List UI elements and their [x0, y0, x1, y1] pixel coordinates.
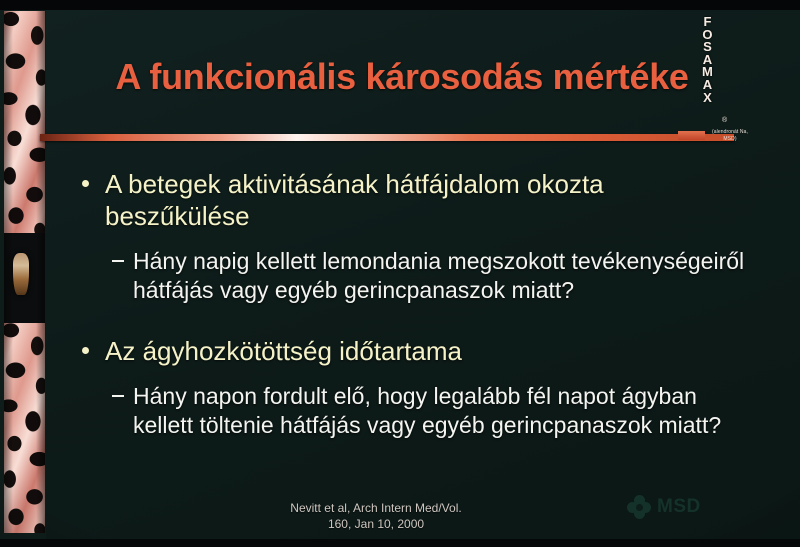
title-divider-rule	[40, 134, 734, 141]
trabecular-bone-texture	[4, 11, 45, 233]
trabecular-bone-texture	[4, 323, 45, 533]
citation-line-1: Nevitt et al, Arch Intern Med/Vol.	[166, 500, 586, 516]
bone-specimen-icon	[13, 253, 29, 295]
presentation-slide: A funkcionális károsodás mértéke A beteg…	[0, 0, 800, 547]
bullet-dash-icon	[112, 395, 124, 397]
fosamax-logo: F O S A M A X ® (alendronát Na, MSD)	[678, 16, 740, 148]
msd-logo: MSD	[627, 495, 701, 519]
bullet-list: A betegek aktivitásának hátfájdalom okoz…	[46, 160, 800, 440]
bullet-level1-label: Az ágyhozkötöttség időtartama	[105, 336, 462, 366]
fosamax-subtext-line-2: MSD)	[708, 136, 752, 143]
bone-image-top	[4, 11, 45, 233]
bullet-block-2: Az ágyhozkötöttség időtartama Hány napon…	[46, 335, 800, 440]
bullet-level1: A betegek aktivitásának hátfájdalom okoz…	[46, 168, 705, 232]
bullet-dot-icon	[82, 347, 89, 354]
slide-title: A funkcionális károsodás mértéke	[72, 56, 732, 98]
bone-image-bottom	[4, 323, 45, 533]
msd-clover-icon	[627, 495, 651, 519]
fosamax-subtext: (alendronát Na, MSD)	[708, 129, 752, 142]
registered-trademark-icon: ®	[722, 117, 727, 124]
source-citation: Nevitt et al, Arch Intern Med/Vol. 160, …	[166, 500, 586, 532]
bullet-block-1: A betegek aktivitásának hátfájdalom okoz…	[46, 168, 800, 305]
bullet-level2: Hány napig kellett lemondania megszokott…	[46, 247, 753, 305]
bottom-letterbox-band	[0, 539, 800, 547]
msd-wordmark: MSD	[657, 496, 701, 518]
fosamax-wordmark: F O S A M A X	[702, 16, 713, 104]
fosamax-subtext-line-1: (alendronát Na,	[708, 129, 752, 136]
bullet-level2-label: Hány napon fordult elő, hogy legalább fé…	[133, 383, 721, 438]
bullet-level2-label: Hány napig kellett lemondania megszokott…	[133, 248, 744, 303]
fosamax-letter: X	[703, 92, 712, 105]
bullet-level1: Az ágyhozkötöttség időtartama	[46, 335, 705, 367]
fosamax-accent-bar	[678, 131, 705, 140]
bullet-level2: Hány napon fordult elő, hogy legalább fé…	[46, 382, 753, 440]
citation-line-2: 160, Jan 10, 2000	[166, 516, 586, 532]
bullet-level1-label: A betegek aktivitásának hátfájdalom okoz…	[105, 169, 604, 231]
top-letterbox-band	[0, 0, 800, 10]
bone-image-middle	[4, 233, 45, 323]
bullet-dash-icon	[112, 260, 124, 262]
bullet-dot-icon	[82, 180, 89, 187]
bone-micrograph-strip	[4, 11, 45, 533]
